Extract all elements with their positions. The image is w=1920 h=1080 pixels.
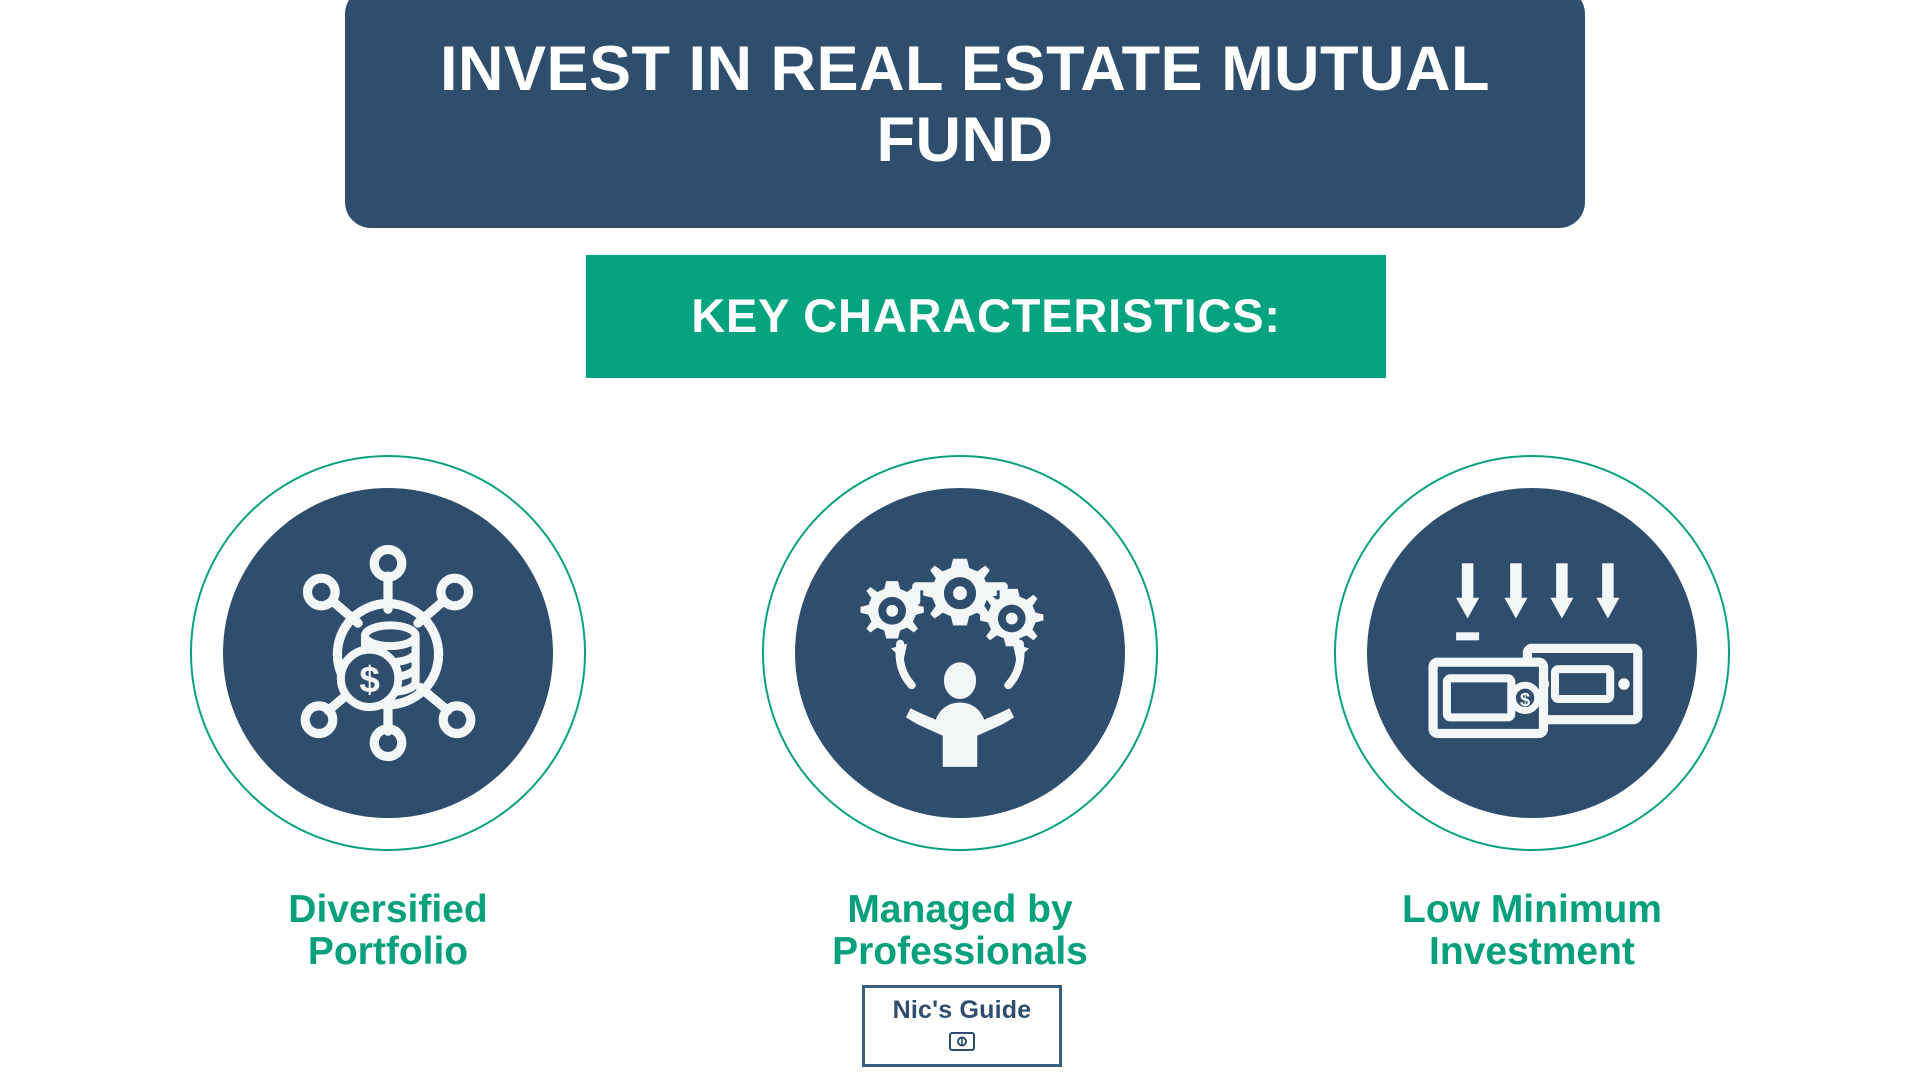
gears-person-icon — [845, 538, 1075, 768]
footer-logo: Nic's Guide — [862, 985, 1062, 1067]
icon-circle: $ — [190, 455, 586, 851]
infographic-page: INVEST IN REAL ESTATE MUTUAL FUND KEY CH… — [0, 0, 1920, 1080]
banknote-icon — [947, 1029, 977, 1055]
arrows-banknotes-icon: $ — [1417, 538, 1647, 768]
brand-name: Nic's Guide — [893, 998, 1032, 1023]
subtitle-banner: KEY CHARACTERISTICS: — [586, 255, 1386, 378]
subtitle-label: KEY CHARACTERISTICS: — [691, 292, 1281, 341]
circle-inner-disc: $ — [1367, 488, 1697, 818]
svg-text:$: $ — [1520, 689, 1530, 710]
title-banner: INVEST IN REAL ESTATE MUTUAL FUND — [345, 0, 1585, 228]
circle-inner-disc — [795, 488, 1125, 818]
characteristic-card-low-minimum-investment: $ Low Minimum Investment — [1332, 455, 1732, 973]
page-title: INVEST IN REAL ESTATE MUTUAL FUND — [385, 34, 1545, 175]
characteristic-card-managed-by-professionals: Managed by Professionals — [760, 455, 1160, 973]
network-coins-icon: $ — [273, 538, 503, 768]
circle-inner-disc: $ — [223, 488, 553, 818]
card-label: Low Minimum Investment — [1402, 889, 1662, 973]
icon-circle — [762, 455, 1158, 851]
icon-circle: $ — [1334, 455, 1730, 851]
card-label: Managed by Professionals — [832, 889, 1088, 973]
characteristic-card-diversified-portfolio: $ Diversified Portfolio — [188, 455, 588, 973]
svg-text:$: $ — [359, 659, 379, 700]
card-label: Diversified Portfolio — [288, 889, 487, 973]
characteristics-row: $ Diversified Portfolio — [0, 455, 1920, 973]
